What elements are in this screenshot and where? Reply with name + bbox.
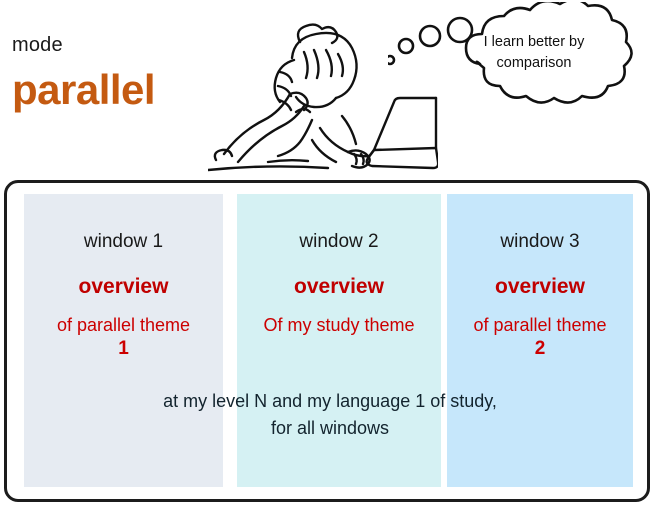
thought-bubble-text: I learn better by comparison (454, 32, 614, 74)
thought-dot-1 (388, 56, 394, 64)
mode-label: mode (12, 34, 63, 57)
mode-value: parallel (12, 66, 155, 114)
window-1-detail-text: of parallel theme (57, 315, 190, 335)
thought-dot-3 (420, 26, 440, 46)
window-panel-2[interactable]: window 2 overview Of my study theme (237, 194, 441, 487)
window-3-detail-number: 2 (451, 337, 629, 361)
window-3-overview-heading: overview (447, 275, 633, 299)
window-2-detail-text: Of my study theme (263, 315, 414, 335)
window-2-detail: Of my study theme (237, 313, 441, 337)
window-2-title: window 2 (237, 231, 441, 253)
window-3-title: window 3 (447, 231, 633, 253)
header-area: mode parallel (0, 0, 656, 176)
windows-container: window 1 overview of parallel theme 1 wi… (4, 180, 650, 502)
window-panel-3[interactable]: window 3 overview of parallel theme 2 (447, 194, 633, 487)
window-3-detail: of parallel theme 2 (447, 313, 633, 361)
window-1-overview-heading: overview (24, 275, 223, 299)
window-3-detail-text: of parallel theme (473, 315, 606, 335)
thought-dot-2 (399, 39, 413, 53)
window-1-detail-number: 1 (28, 337, 219, 361)
window-1-title: window 1 (24, 231, 223, 253)
window-panel-1[interactable]: window 1 overview of parallel theme 1 (24, 194, 223, 487)
window-1-detail: of parallel theme 1 (24, 313, 223, 361)
thought-bubble: I learn better by comparison (388, 2, 654, 142)
window-2-overview-heading: overview (237, 275, 441, 299)
